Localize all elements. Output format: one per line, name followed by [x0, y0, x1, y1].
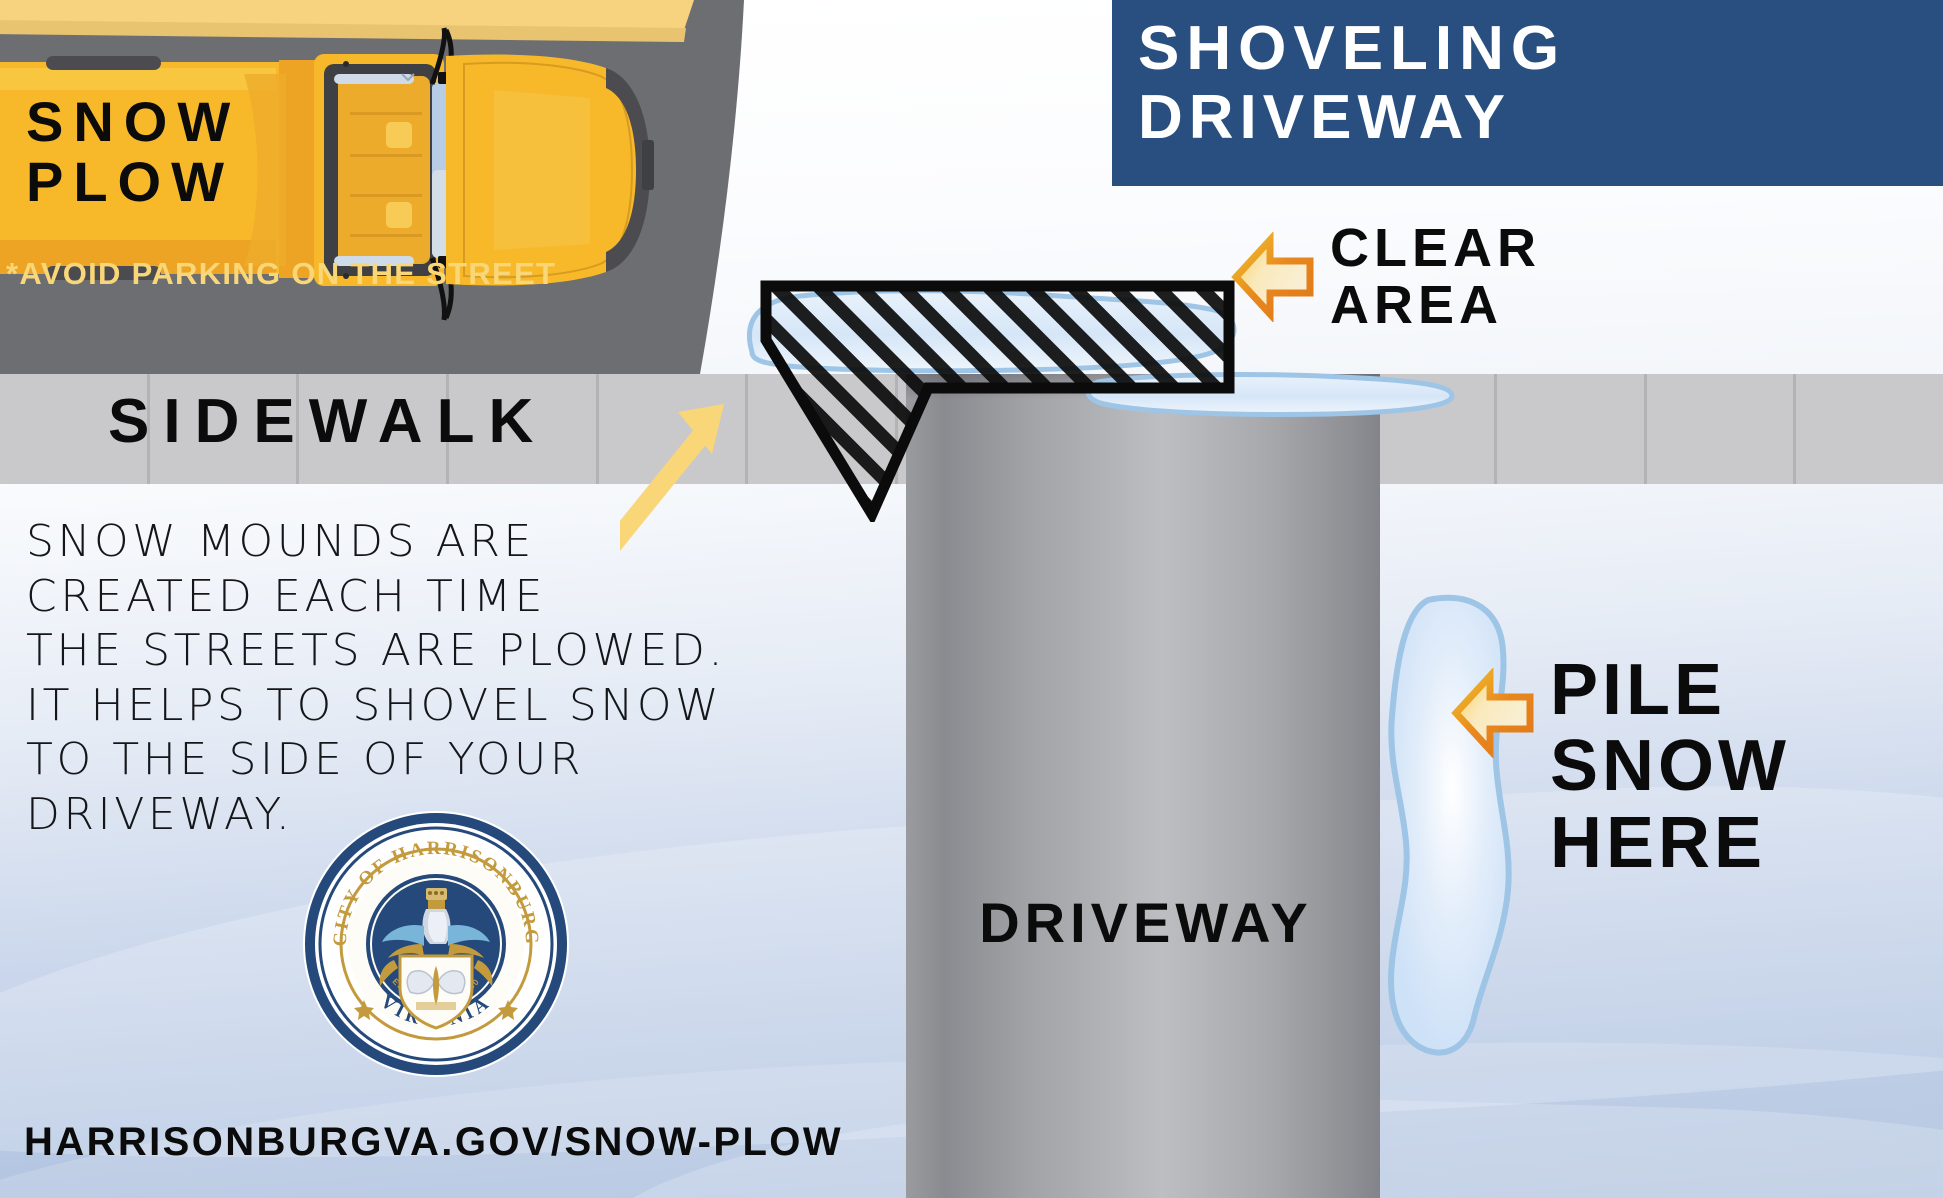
left-arrow-icon	[1450, 668, 1536, 758]
header-title-line1: SHOVELING	[1138, 14, 1566, 83]
callout-pile-line1: PILE	[1550, 652, 1790, 728]
driveway-label: DRIVEWAY	[926, 890, 1366, 955]
infographic-poster: SNOW PLOW *AVOID PARKING ON THE STREET S…	[0, 0, 1943, 1198]
footer-url[interactable]: HARRISONBURGVA.GOV/SNOW-PLOW	[24, 1120, 843, 1165]
sidewalk-tile	[1647, 374, 1797, 484]
header-banner: SHOVELING DRIVEWAY	[1112, 0, 1943, 186]
callout-pile-snow-here-text: PILE SNOW HERE	[1550, 652, 1790, 881]
left-arrow-icon	[1230, 232, 1316, 322]
callout-clear-area-line2: AREA	[1330, 277, 1541, 334]
sidewalk-tile	[1497, 374, 1647, 484]
callout-pile-line3: HERE	[1550, 805, 1790, 881]
snow-plow-label-line1: SNOW	[26, 92, 240, 152]
callout-pile-line2: SNOW	[1550, 728, 1790, 804]
avoid-parking-note: *AVOID PARKING ON THE STREET	[6, 256, 556, 292]
sidewalk-label: SIDEWALK	[108, 374, 547, 470]
callout-clear-area: CLEAR AREA	[1230, 232, 1541, 334]
sidewalk-tile	[1796, 374, 1943, 484]
city-of-harrisonburg-seal: CITY OF HARRISONBURG VIRGINIA ESTABLISHE…	[302, 810, 570, 1078]
snow-plow-label: SNOW PLOW	[26, 92, 240, 213]
body-paragraph: SNOW MOUNDS ARE CREATED EACH TIME THE ST…	[26, 515, 726, 842]
header-title-line2: DRIVEWAY	[1138, 83, 1566, 152]
callout-clear-area-text: CLEAR AREA	[1330, 220, 1541, 334]
callout-clear-area-line1: CLEAR	[1330, 220, 1541, 277]
callout-pile-snow-here: PILE SNOW HERE	[1450, 668, 1790, 881]
header-title: SHOVELING DRIVEWAY	[1138, 14, 1566, 153]
snow-plow-label-line2: PLOW	[26, 152, 240, 212]
